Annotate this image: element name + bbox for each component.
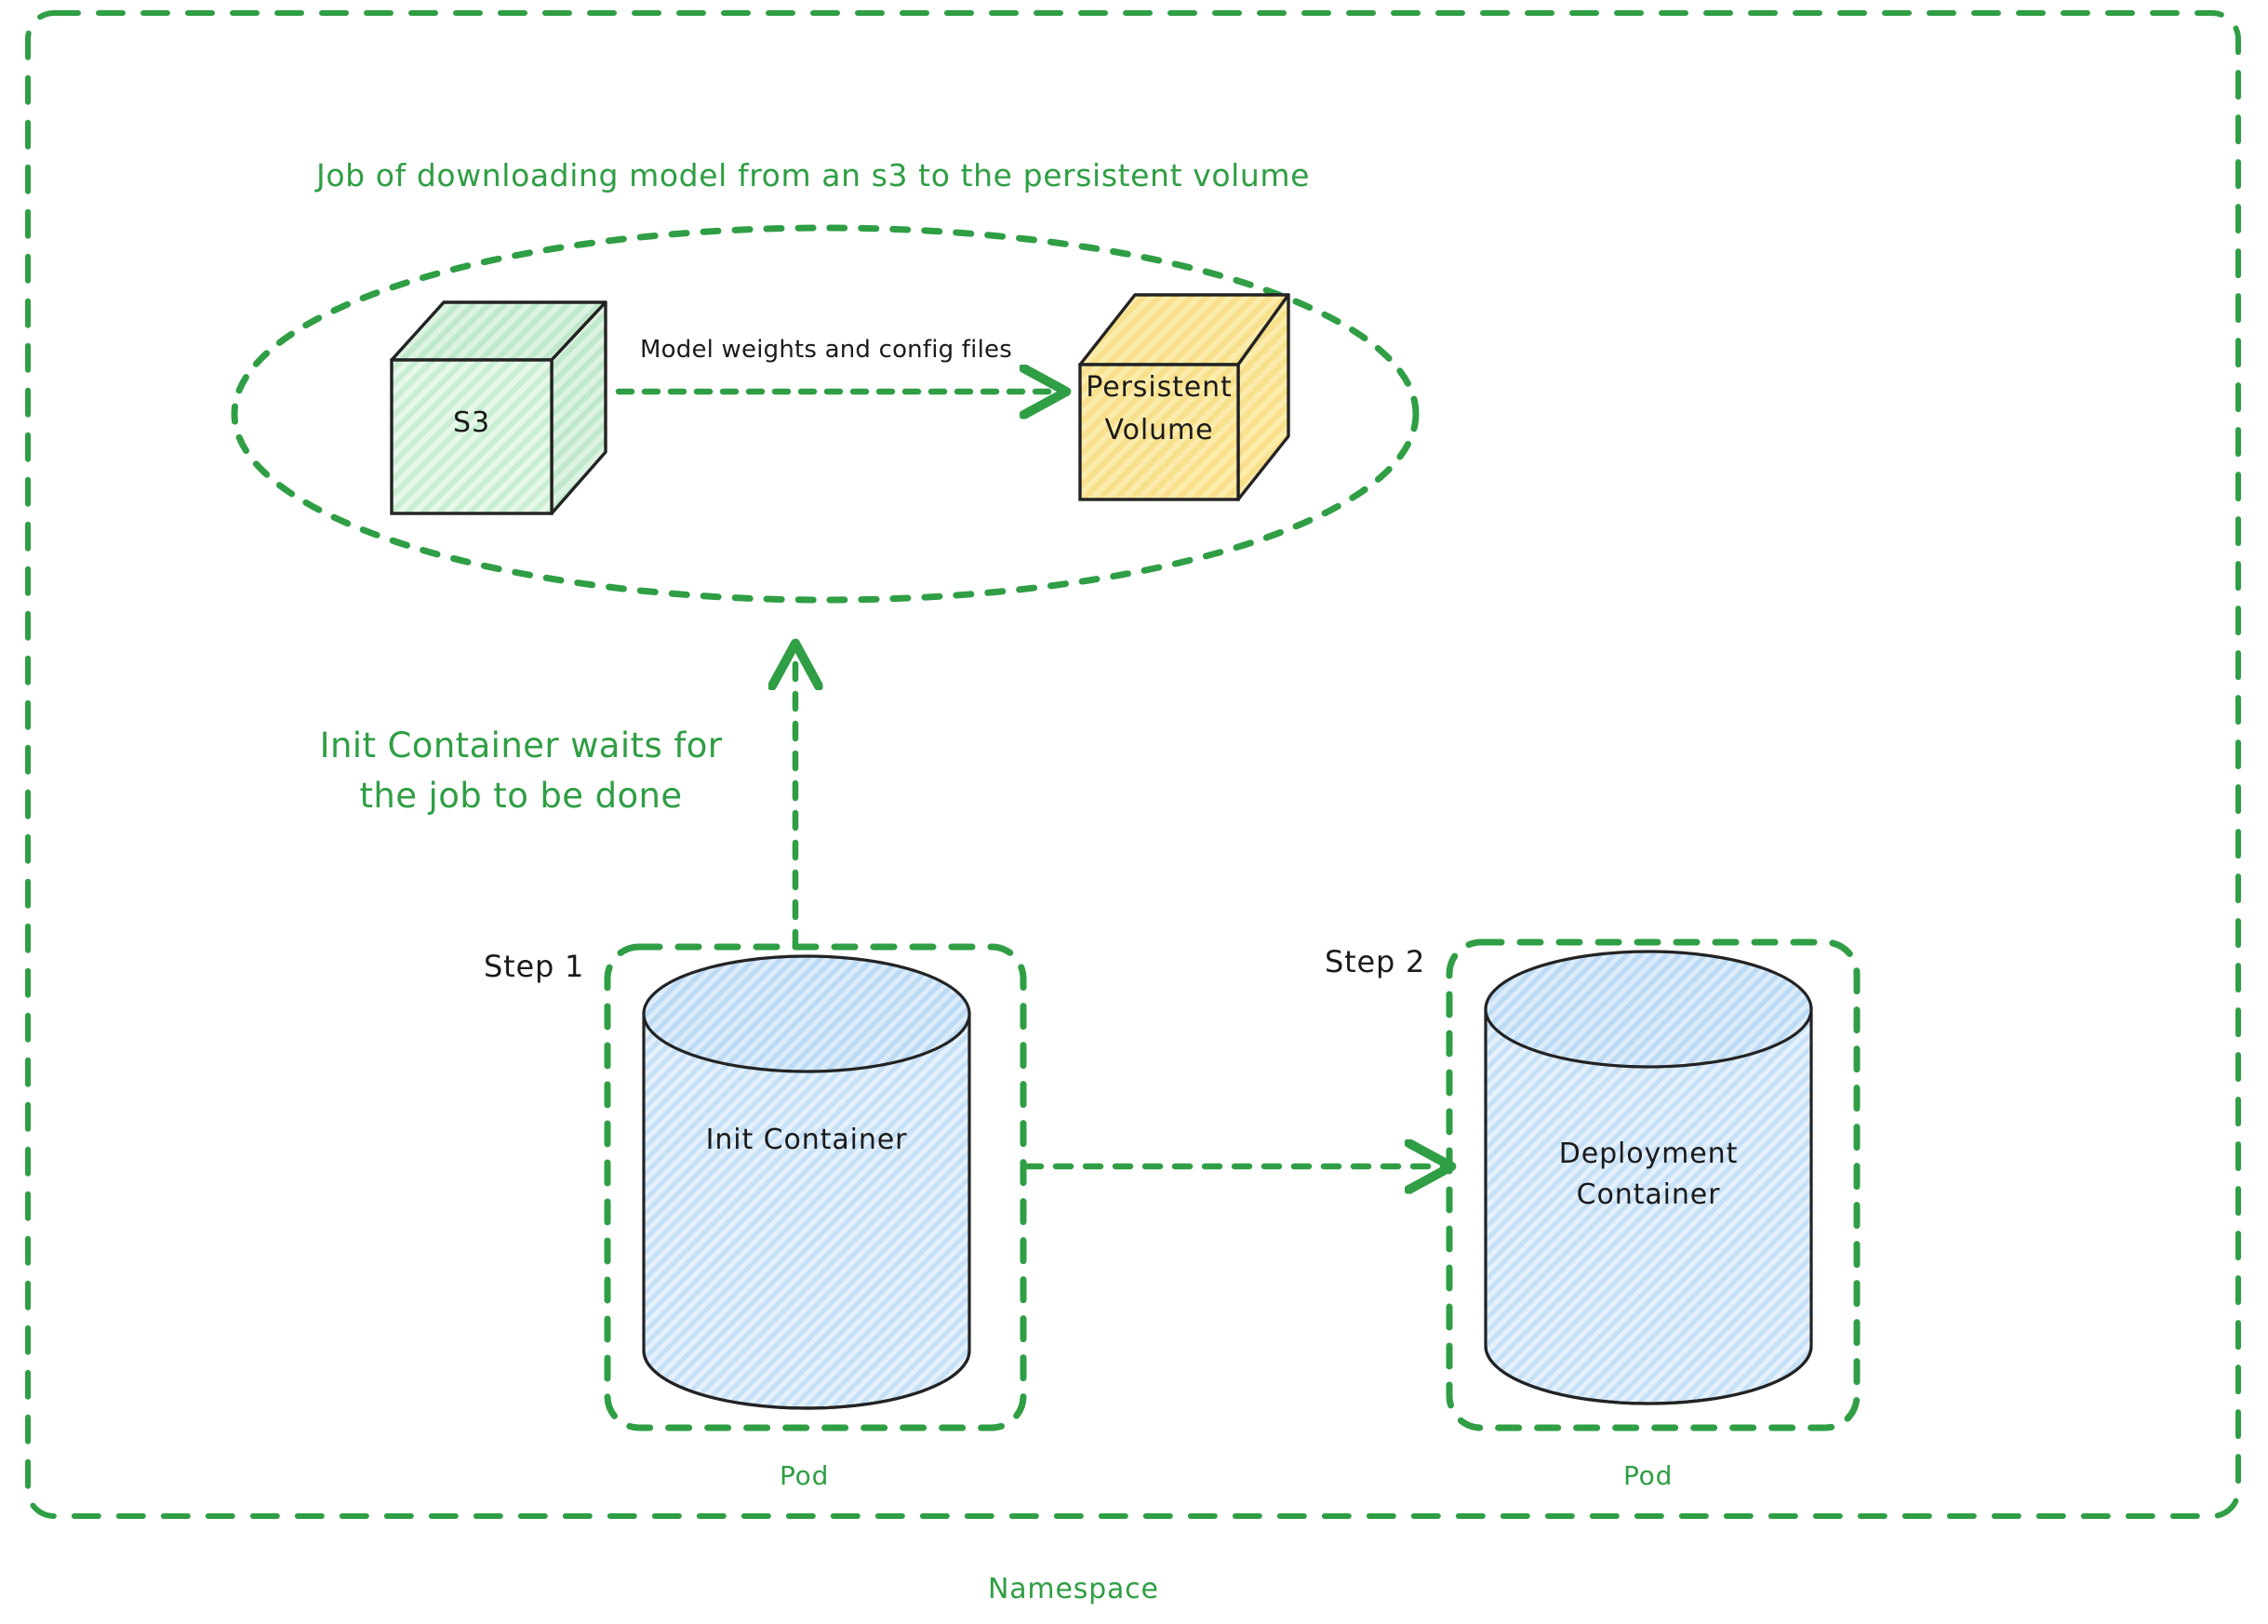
step-2-label: Step 2 bbox=[1325, 943, 1425, 980]
deployment-container-label-line1: Deployment bbox=[1486, 1137, 1811, 1172]
diagram-canvas: Job of downloading model from an s3 to t… bbox=[0, 0, 2268, 1624]
s3-to-pv-edge-label: Model weights and config files bbox=[640, 335, 1012, 366]
init-container-cylinder bbox=[644, 956, 969, 1408]
persistent-volume-label-line2: Volume bbox=[1068, 413, 1250, 448]
namespace-label: Namespace bbox=[988, 1572, 1159, 1607]
s3-cube-label: S3 bbox=[392, 406, 552, 441]
init-wait-note-line2: the job to be done bbox=[270, 775, 772, 818]
job-title-label: Job of downloading model from an s3 to t… bbox=[316, 156, 1310, 194]
init-wait-note-line1: Init Container waits for bbox=[270, 725, 772, 767]
deployment-container-label-line2: Container bbox=[1486, 1178, 1811, 1213]
step-1-label: Step 1 bbox=[484, 948, 584, 985]
pod-2-label: Pod bbox=[1623, 1459, 1673, 1492]
init-container-label: Init Container bbox=[644, 1123, 969, 1158]
pod-1-label: Pod bbox=[780, 1459, 829, 1492]
persistent-volume-label-line1: Persistent bbox=[1068, 370, 1250, 406]
